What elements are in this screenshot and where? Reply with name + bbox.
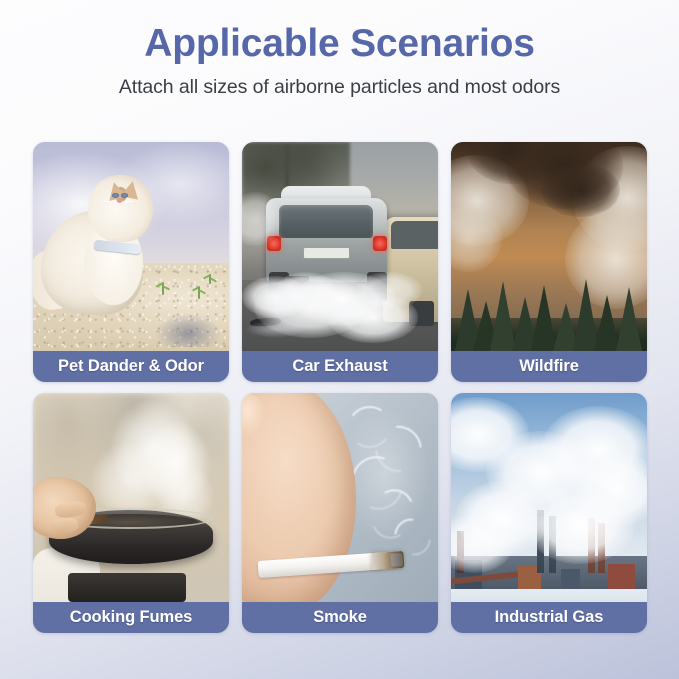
car-exhaust-photo (242, 142, 438, 351)
smoke-plume (525, 485, 635, 564)
cat-head (88, 175, 153, 242)
scenario-grid: Pet Dander & Odor (33, 142, 647, 633)
page-title: Applicable Scenarios (0, 22, 679, 67)
cat-nose (117, 199, 122, 203)
cat-whisker (103, 200, 112, 202)
scenario-label-car-exhaust: Car Exhaust (242, 351, 438, 382)
factory-building (608, 564, 635, 589)
factory-building (561, 569, 581, 590)
page-header: Applicable Scenarios Attach all sizes of… (0, 0, 679, 99)
page-subtitle: Attach all sizes of airborne particles a… (0, 76, 679, 99)
exhaust-smoke (328, 292, 418, 342)
car-taillight-right (373, 236, 387, 251)
smoke-photo (242, 393, 438, 602)
scenario-label-wildfire: Wildfire (451, 351, 647, 382)
car-rear-window (279, 205, 373, 238)
applicable-scenarios-page: Applicable Scenarios Attach all sizes of… (0, 0, 679, 679)
pet-dander-photo (33, 142, 229, 351)
scenario-label-smoke: Smoke (242, 602, 438, 633)
knuckle (242, 394, 265, 435)
scenario-card-smoke[interactable]: Smoke (242, 393, 438, 633)
industrial-gas-photo (451, 393, 647, 602)
scenario-card-wildfire[interactable]: Wildfire (451, 142, 647, 382)
stove-burner (68, 573, 186, 602)
scenario-label-pet-dander: Pet Dander & Odor (33, 351, 229, 382)
second-car-window (391, 221, 438, 248)
scenario-card-industrial-gas[interactable]: Industrial Gas (451, 393, 647, 633)
cat-whisker (125, 200, 134, 202)
cigarette-ash (390, 553, 402, 567)
scenario-card-pet-dander[interactable]: Pet Dander & Odor (33, 142, 229, 382)
scenario-label-industrial-gas: Industrial Gas (451, 602, 647, 633)
wildfire-photo (451, 142, 647, 351)
cooking-fumes-photo (33, 393, 229, 602)
scenario-card-car-exhaust[interactable]: Car Exhaust (242, 142, 438, 382)
sprout-icon (198, 286, 200, 299)
conifer-tree (616, 287, 642, 351)
scenario-label-cooking-fumes: Cooking Fumes (33, 602, 229, 633)
scenario-card-cooking-fumes[interactable]: Cooking Fumes (33, 393, 229, 633)
car-license-plate (303, 247, 350, 260)
litter-shadow (155, 313, 222, 346)
